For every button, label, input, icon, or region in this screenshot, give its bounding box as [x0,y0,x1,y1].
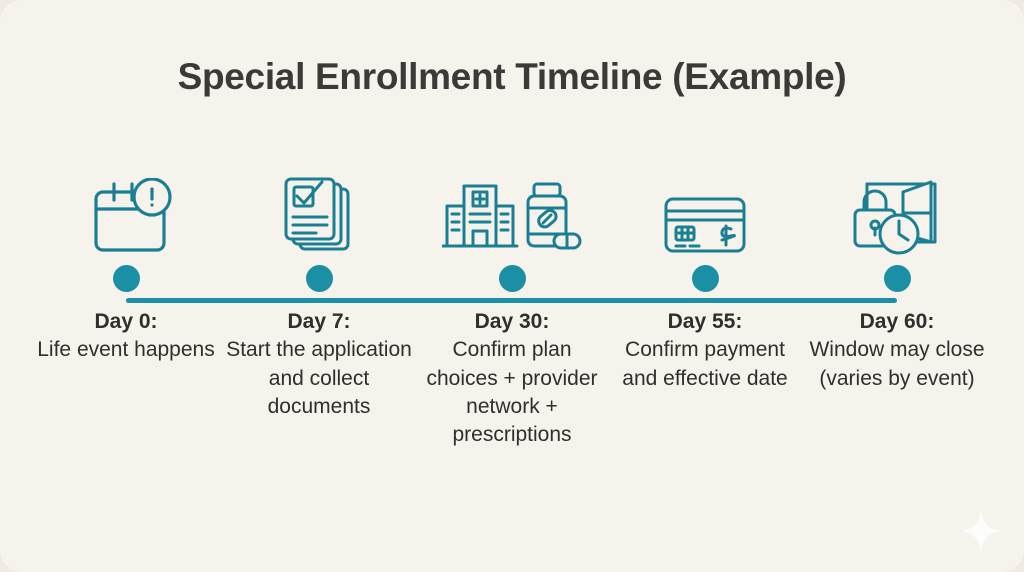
milestone-labels: Day 7: Start the application and collect… [221,296,417,421]
timeline-dot[interactable] [884,265,911,292]
page-title: Special Enrollment Timeline (Example) [0,55,1024,99]
milestone-day-label: Day 7: [221,308,417,336]
milestone-dot-wrapper [799,260,995,296]
window-lock-clock-icon [847,176,947,256]
timeline-milestone-day-55[interactable]: Day 55: Confirm payment and effective da… [607,160,803,393]
timeline-dot[interactable] [692,265,719,292]
calendar-alert-icon [80,178,172,256]
milestone-dot-wrapper [414,260,610,296]
milestone-labels: Day 60: Window may close (varies by even… [799,296,995,393]
milestone-icon-wrapper [799,160,995,260]
milestone-description: Start the application and collect docume… [221,336,417,421]
timeline-dot[interactable] [499,265,526,292]
milestone-day-label: Day 30: [414,308,610,336]
timeline-milestone-day-30[interactable]: Day 30: Confirm plan choices + provider … [414,160,610,450]
milestone-day-label: Day 55: [607,308,803,336]
milestone-icon-wrapper [221,160,417,260]
hospital-prescription-icon [442,176,582,256]
milestone-labels: Day 0: Life event happens [28,296,224,365]
milestone-description: Confirm plan choices + provider network … [414,336,610,449]
timeline-milestone-day-7[interactable]: Day 7: Start the application and collect… [221,160,417,421]
timeline-dot[interactable] [306,265,333,292]
milestone-labels: Day 55: Confirm payment and effective da… [607,296,803,393]
milestone-dot-wrapper [607,260,803,296]
milestone-labels: Day 30: Confirm plan choices + provider … [414,296,610,450]
milestone-icon-wrapper [28,160,224,260]
milestone-icon-wrapper [607,160,803,260]
milestone-day-label: Day 0: [28,308,224,336]
credit-card-icon [661,190,749,256]
timeline: Day 0: Life event happens [0,160,1024,540]
milestone-icon-wrapper [414,160,610,260]
timeline-milestone-day-60[interactable]: Day 60: Window may close (varies by even… [799,160,995,393]
milestone-day-label: Day 60: [799,308,995,336]
documents-checklist-icon [277,176,361,256]
timeline-milestone-day-0[interactable]: Day 0: Life event happens [28,160,224,365]
timeline-dot[interactable] [113,265,140,292]
infographic-canvas: Special Enrollment Timeline (Example) [0,0,1024,572]
milestone-description: Life event happens [28,336,224,364]
milestone-description: Window may close (varies by event) [799,336,995,393]
milestone-description: Confirm payment and effective date [607,336,803,393]
milestone-dot-wrapper [221,260,417,296]
milestone-dot-wrapper [28,260,224,296]
